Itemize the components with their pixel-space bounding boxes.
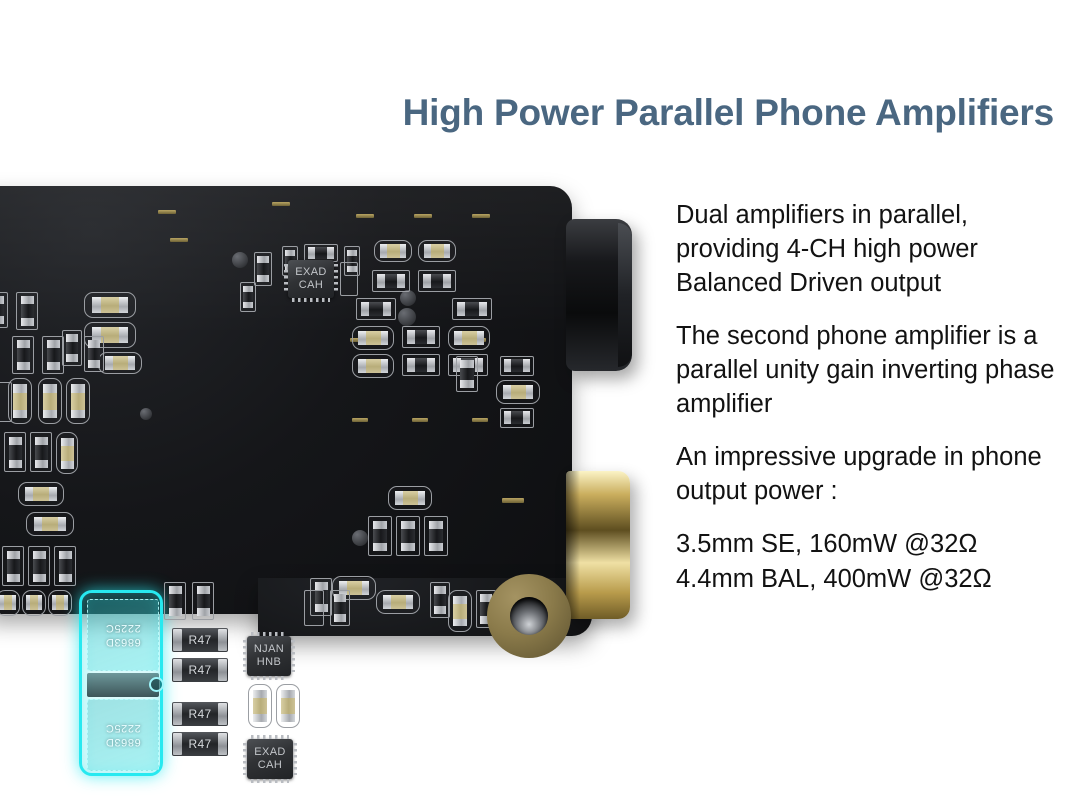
smd-capacitor — [0, 595, 16, 610]
amp-top-line2: 2225C — [105, 621, 140, 635]
smd-capacitor — [26, 595, 42, 610]
ic-pins-left — [284, 264, 288, 294]
ic-pins-left — [243, 640, 247, 672]
pcb-photo: EXAD CAH — [0, 186, 660, 656]
trace-stub — [170, 238, 188, 242]
marketing-copy: Dual amplifiers in parallel, providing 4… — [676, 198, 1068, 597]
smd-capacitor — [253, 690, 267, 722]
ic-label-line1: EXAD — [295, 266, 327, 279]
smd-capacitor — [358, 359, 388, 373]
resistor-r47-1: R47 — [172, 628, 228, 652]
ic-exad-cah-top: EXAD CAH — [288, 260, 334, 298]
paragraph-3: An impressive upgrade in phone output po… — [676, 440, 1068, 508]
smd-resistor — [407, 358, 435, 372]
smd-capacitor — [503, 385, 533, 399]
smd-resistor — [35, 437, 48, 468]
ic-exad-cah-bottom: EXAD CAH — [247, 739, 293, 779]
mounting-ring — [487, 574, 571, 658]
ic-pins-bottom — [292, 298, 330, 302]
smd-resistor — [504, 359, 530, 372]
smd-resistor — [21, 296, 34, 326]
smd-resistor — [197, 586, 210, 616]
paragraph-2: The second phone amplifier is a parallel… — [676, 319, 1068, 421]
resistor-r47-3: R47 — [172, 702, 228, 726]
smd-resistor — [243, 286, 253, 308]
smd-resistor — [88, 340, 100, 368]
smd-capacitor — [358, 331, 388, 345]
trace-stub — [352, 418, 368, 422]
smd-capacitor — [61, 438, 74, 469]
smd-capacitor — [71, 384, 85, 418]
ic-label-line2: CAH — [258, 759, 282, 772]
ic-pins-top — [251, 632, 287, 636]
page-title: High Power Parallel Phone Amplifiers — [0, 92, 1054, 134]
smd-resistor — [66, 334, 78, 362]
ic-pins-right — [291, 640, 295, 672]
ic-pins-bottom — [251, 779, 289, 783]
resistor-r47-2: R47 — [172, 658, 228, 682]
ic-pins-right — [334, 264, 338, 294]
amp-top-line1: 6863D — [105, 635, 140, 649]
smd-resistor — [377, 274, 405, 288]
smd-capacitor — [25, 487, 57, 501]
smd-resistor — [434, 586, 446, 614]
trace-stub — [412, 418, 428, 422]
solder-blob — [352, 530, 368, 546]
smd-capacitor — [34, 517, 66, 531]
smd-resistor — [33, 551, 46, 582]
smd-resistor — [0, 296, 4, 324]
smd-resistor — [504, 411, 530, 424]
amp-bottom-line2: 2225C — [105, 721, 140, 735]
smd-resistor — [407, 330, 435, 344]
smd-resistor — [373, 521, 387, 551]
smd-pad — [304, 590, 324, 626]
trace-stub — [356, 214, 374, 218]
ic-label-line1: EXAD — [254, 746, 286, 759]
smd-resistor — [257, 256, 269, 282]
solder-blob — [400, 290, 416, 306]
solder-blob — [232, 252, 248, 268]
jack-3-5mm-se — [566, 219, 632, 371]
ic-pins-right — [293, 743, 297, 775]
solder-blob — [140, 408, 152, 420]
smd-capacitor — [105, 356, 135, 370]
smd-capacitor — [383, 595, 413, 609]
trace-stub — [414, 214, 432, 218]
smd-resistor — [429, 521, 443, 551]
smd-resistor — [17, 340, 30, 370]
trace-stub — [472, 214, 490, 218]
ic-label-line2: CAH — [299, 279, 323, 292]
trace-stub — [272, 202, 290, 206]
amplifier-chip-bottom: 6863D 2225C — [87, 699, 159, 771]
smd-resistor — [9, 437, 22, 468]
smd-capacitor — [92, 297, 128, 313]
smd-capacitor — [380, 244, 406, 258]
smd-resistor — [7, 551, 20, 582]
smd-pad — [340, 262, 358, 296]
smd-resistor — [361, 302, 391, 316]
smd-capacitor — [43, 384, 57, 418]
paragraph-1: Dual amplifiers in parallel, providing 4… — [676, 198, 1068, 300]
smd-resistor — [308, 247, 334, 259]
ic-njan-hnb: NJAN HNB — [247, 636, 291, 676]
smd-capacitor — [424, 244, 450, 258]
spec-bal: 4.4mm BAL, 400mW @32Ω — [676, 562, 1068, 597]
smd-capacitor — [52, 595, 68, 610]
resistor-r47-4: R47 — [172, 732, 228, 756]
jack-4-4mm-bal — [566, 471, 630, 619]
smd-resistor — [169, 586, 182, 616]
spec-se: 3.5mm SE, 160mW @32Ω — [676, 527, 1068, 562]
smd-capacitor — [453, 596, 467, 626]
ic-label-line2: HNB — [257, 656, 281, 669]
amp-bottom-line1: 6863D — [105, 735, 140, 749]
trace-stub — [158, 210, 176, 214]
smd-resistor — [334, 594, 346, 622]
smd-capacitor — [13, 384, 27, 418]
smd-resistor — [47, 340, 60, 370]
amplifier-highlight-box: 6863D 2225C 6863D 2225C — [79, 590, 163, 776]
amplifier-pin1-marker — [149, 677, 164, 692]
smd-resistor — [59, 551, 72, 582]
smd-resistor — [423, 274, 451, 288]
solder-blob — [398, 308, 416, 326]
smd-capacitor — [395, 491, 425, 505]
smd-pad — [0, 382, 12, 422]
ic-pins-left — [243, 743, 247, 775]
trace-stub — [472, 418, 488, 422]
trace-stub — [502, 498, 524, 503]
amplifier-chip-top: 6863D 2225C — [87, 599, 159, 671]
ic-label-line1: NJAN — [254, 643, 284, 656]
ic-pins-top — [251, 735, 289, 739]
smd-resistor — [401, 521, 415, 551]
smd-capacitor — [281, 690, 295, 722]
smd-capacitor — [454, 331, 484, 345]
ic-pins-bottom — [251, 676, 287, 680]
smd-resistor — [457, 302, 487, 316]
smd-resistor — [460, 360, 474, 388]
mounting-ring-bore — [510, 597, 548, 635]
spec-list: 3.5mm SE, 160mW @32Ω 4.4mm BAL, 400mW @3… — [676, 527, 1068, 597]
